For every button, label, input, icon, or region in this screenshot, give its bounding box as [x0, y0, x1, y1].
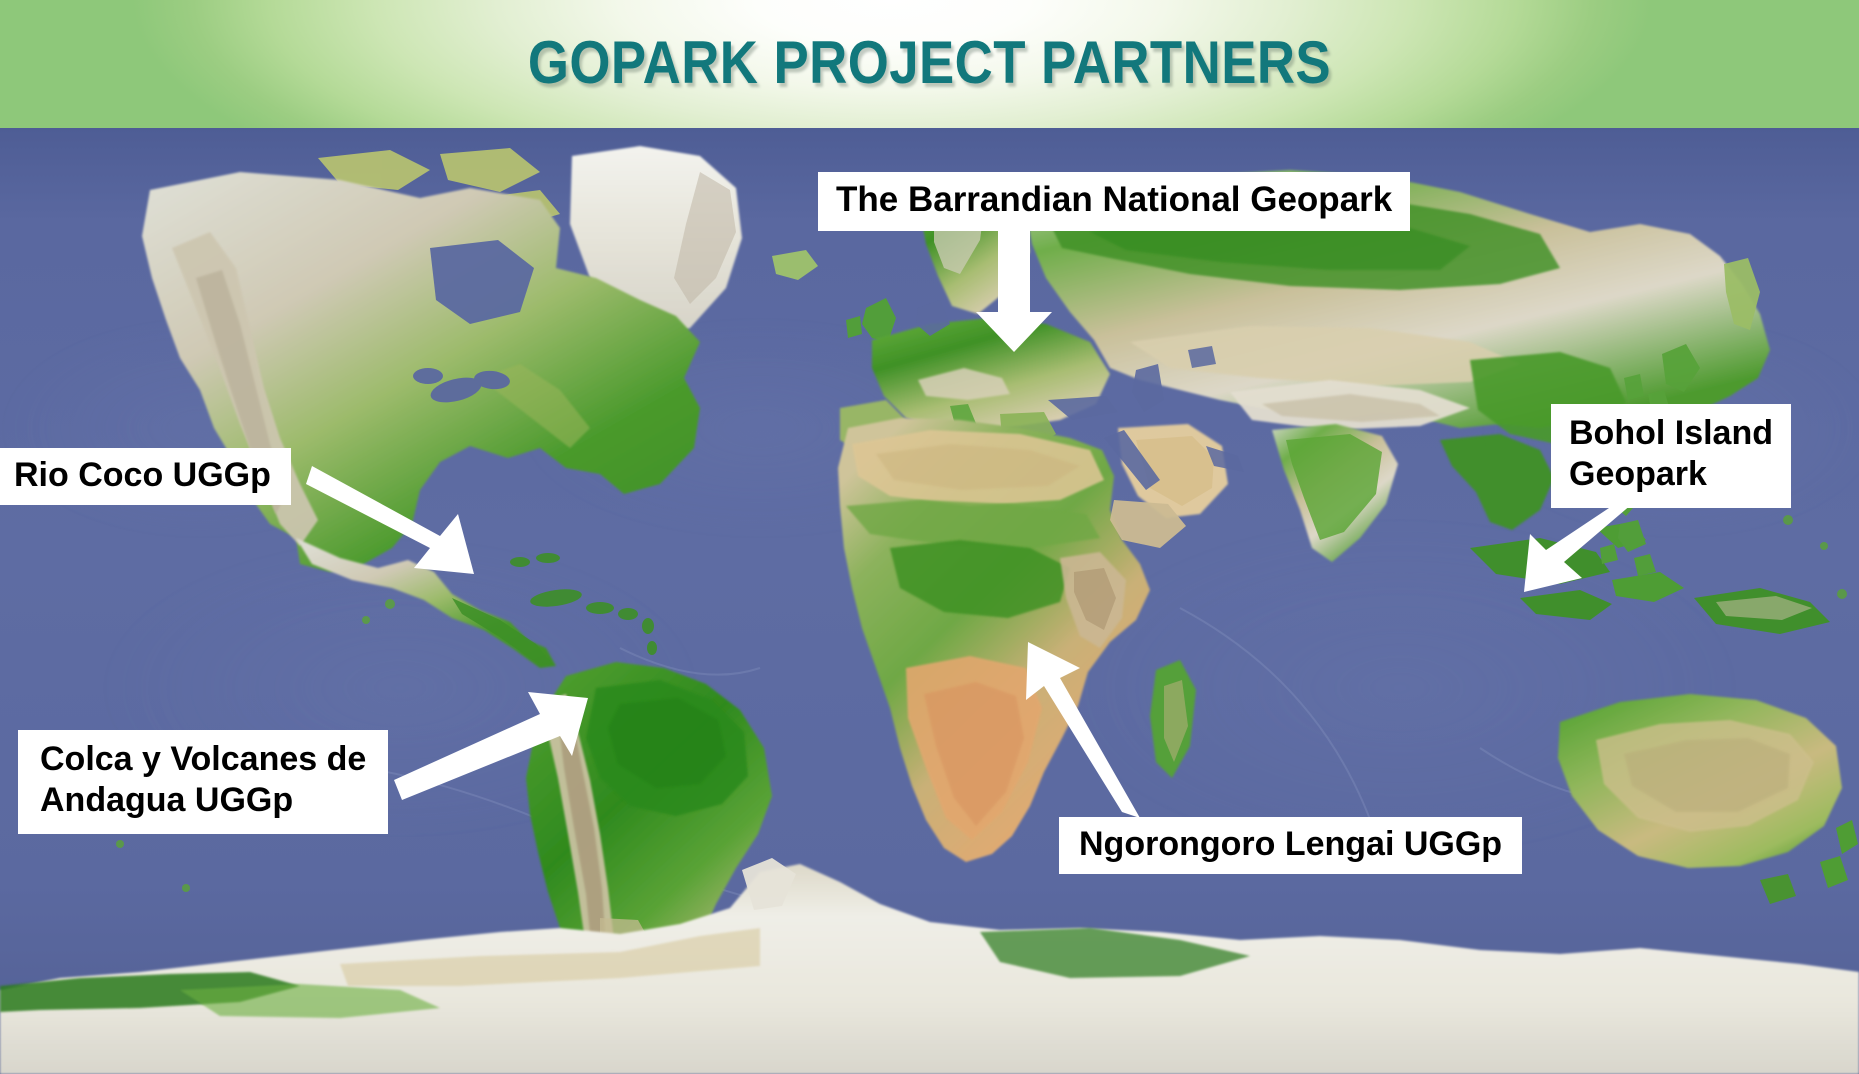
world-map-graphic: [0, 128, 1859, 1074]
map-label-ngorongoro-lengai[interactable]: Ngorongoro Lengai UGGp: [1059, 817, 1522, 874]
map-label-bohol-island[interactable]: Bohol Island Geopark: [1551, 404, 1791, 508]
map-label-barrandian[interactable]: The Barrandian National Geopark: [818, 172, 1410, 231]
slide-canvas: GOPARK PROJECT PARTNERS: [0, 0, 1859, 1074]
title-banner: GOPARK PROJECT PARTNERS: [0, 0, 1859, 128]
map-label-colca-y-volcanes[interactable]: Colca y Volcanes de Andagua UGGp: [18, 730, 388, 834]
page-title: GOPARK PROJECT PARTNERS: [112, 28, 1748, 97]
world-map: [0, 128, 1859, 1074]
map-label-rio-coco[interactable]: Rio Coco UGGp: [0, 448, 291, 505]
